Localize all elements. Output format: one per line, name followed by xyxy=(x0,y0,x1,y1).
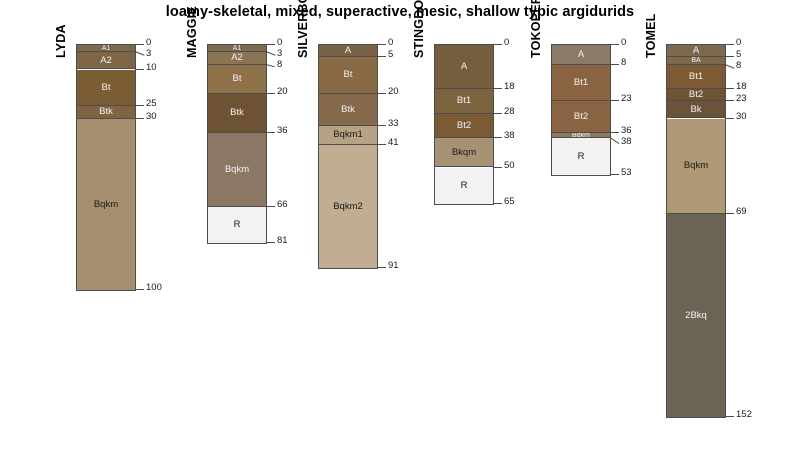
horizon-bt1: Bt1 xyxy=(552,65,610,102)
depth-value: 8 xyxy=(277,60,282,70)
horizon-bt2: Bt2 xyxy=(667,89,725,101)
tick-leader-line xyxy=(266,93,275,94)
horizon-label: R xyxy=(578,152,585,162)
tick-leader-line xyxy=(493,44,502,45)
tick-leader-line xyxy=(266,206,275,207)
horizon-a: A xyxy=(435,45,493,89)
depth-value: 91 xyxy=(388,261,399,271)
profile-name-label: LYDA xyxy=(54,24,68,58)
horizon-label: Btk xyxy=(341,105,355,115)
horizon-bt: Bt xyxy=(319,57,377,94)
tick-leader-line xyxy=(266,51,275,56)
depth-value: 28 xyxy=(504,107,515,117)
horizon-r: R xyxy=(208,207,266,244)
tick-leader-line xyxy=(135,69,144,70)
profile-column: A1A2BtBtkBqkmR xyxy=(207,44,267,244)
tick-leader-line xyxy=(610,174,619,175)
horizon-bqkm: Bqkm xyxy=(667,119,725,215)
horizon-label: Btk xyxy=(99,107,113,117)
depth-value: 8 xyxy=(621,58,626,68)
tick-leader-line xyxy=(493,137,502,138)
depth-value: 0 xyxy=(736,38,741,48)
horizon-label: A xyxy=(461,62,467,72)
horizon-a: A xyxy=(319,45,377,57)
horizon-label: R xyxy=(461,181,468,191)
horizon-r: R xyxy=(552,138,610,175)
depth-value: 18 xyxy=(504,82,515,92)
depth-value: 38 xyxy=(621,137,632,147)
horizon-bqkm1: Bqkm1 xyxy=(319,126,377,146)
horizon-a2: A2 xyxy=(77,52,135,69)
depth-value: 41 xyxy=(388,138,399,148)
depth-value: 30 xyxy=(146,112,157,122)
depth-value: 53 xyxy=(621,168,632,178)
tick-leader-line xyxy=(266,242,275,243)
depth-value: 33 xyxy=(388,119,399,129)
horizon-label: Bt2 xyxy=(457,121,471,131)
depth-value: 100 xyxy=(146,283,162,293)
depth-value: 36 xyxy=(277,126,288,136)
tick-leader-line xyxy=(725,100,734,101)
depth-value: 3 xyxy=(146,49,151,59)
profile-column: ABtBtkBqkm1Bqkm2 xyxy=(318,44,378,269)
depth-value: 0 xyxy=(146,38,151,48)
depth-value: 65 xyxy=(504,197,515,207)
depth-value: 0 xyxy=(388,38,393,48)
horizon-label: Bkqm xyxy=(452,148,476,158)
depth-value: 5 xyxy=(388,50,393,60)
tick-leader-line xyxy=(493,203,502,204)
depth-value: 25 xyxy=(146,99,157,109)
horizon-label: A2 xyxy=(100,56,112,66)
tick-leader-line xyxy=(725,118,734,119)
horizon-label: Bqkm1 xyxy=(333,130,363,140)
tick-leader-line xyxy=(135,105,144,106)
depth-value: 3 xyxy=(277,49,282,59)
profile-name-label: STINGDORN xyxy=(412,0,426,58)
tick-leader-line xyxy=(610,137,620,144)
horizon-bt2: Bt2 xyxy=(552,101,610,133)
horizon-label: Bt2 xyxy=(689,90,703,100)
horizon-label: Btk xyxy=(230,108,244,118)
depth-value: 0 xyxy=(277,38,282,48)
horizon-bk: Bk xyxy=(667,101,725,118)
horizon-label: 2Bkq xyxy=(685,311,707,321)
profile-name-label: TOMEL xyxy=(644,13,658,58)
tick-leader-line xyxy=(610,100,619,101)
tick-leader-line xyxy=(725,416,734,417)
tick-leader-line xyxy=(135,44,144,45)
horizon-bkqm: Bkqm xyxy=(435,138,493,167)
tick-leader-line xyxy=(377,56,386,57)
depth-value: 5 xyxy=(736,50,741,60)
profile-column: ABt1Bt2BkqmR xyxy=(434,44,494,205)
horizon-a: A xyxy=(667,45,725,57)
tick-leader-line xyxy=(725,213,734,214)
horizon-bt2: Bt2 xyxy=(435,114,493,139)
horizon-bt1: Bt1 xyxy=(435,89,493,114)
depth-value: 152 xyxy=(736,410,752,420)
depth-value: 66 xyxy=(277,200,288,210)
tick-leader-line xyxy=(725,64,734,69)
horizon-a1: A1 xyxy=(208,45,266,52)
horizon-label: Bqkm2 xyxy=(333,202,363,212)
profile-column: ABABt1Bt2BkBqkm2Bkq xyxy=(666,44,726,418)
tick-leader-line xyxy=(135,289,144,290)
horizon-label: A2 xyxy=(231,53,243,63)
depth-value: 0 xyxy=(621,38,626,48)
horizon-label: Bt1 xyxy=(457,96,471,106)
page-title: loamy-skeletal, mixed, superactive, mesi… xyxy=(0,4,800,20)
depth-value: 18 xyxy=(736,82,747,92)
tick-leader-line xyxy=(266,132,275,133)
horizon-label: Bt xyxy=(233,74,242,84)
tick-leader-line xyxy=(725,88,734,89)
horizon-label: A xyxy=(578,50,584,60)
depth-value: 38 xyxy=(504,131,515,141)
tick-leader-line xyxy=(377,144,386,145)
horizon-label: BA xyxy=(691,57,700,64)
horizon-bt1: Bt1 xyxy=(667,65,725,90)
depth-value: 0 xyxy=(504,38,509,48)
horizon-label: Bqkm xyxy=(94,200,118,210)
tick-leader-line xyxy=(135,118,144,119)
tick-leader-line xyxy=(266,44,275,45)
depth-value: 10 xyxy=(146,63,157,73)
horizon-ba: BA xyxy=(667,57,725,64)
depth-value: 50 xyxy=(504,161,515,171)
horizon-label: A1 xyxy=(102,45,111,52)
horizon-a1: A1 xyxy=(77,45,135,52)
horizon-bqkm: Bqkm xyxy=(208,133,266,207)
tick-leader-line xyxy=(377,125,386,126)
horizon-label: Bt1 xyxy=(689,72,703,82)
depth-value: 20 xyxy=(277,87,288,97)
horizon-label: Bqkm xyxy=(225,165,249,175)
tick-leader-line xyxy=(493,88,502,89)
horizon-btk: Btk xyxy=(319,94,377,126)
tick-leader-line xyxy=(493,167,502,168)
depth-value: 8 xyxy=(736,61,741,71)
tick-leader-line xyxy=(493,113,502,114)
horizon-2bkq: 2Bkq xyxy=(667,214,725,417)
horizon-label: Bt1 xyxy=(574,78,588,88)
horizon-label: R xyxy=(234,220,241,230)
depth-value: 36 xyxy=(621,126,632,136)
profile-name-label: TOKOPER xyxy=(529,0,543,58)
horizon-label: A xyxy=(345,46,351,56)
profile-name-label: MAGGIE xyxy=(185,6,199,58)
tick-leader-line xyxy=(377,44,386,45)
profile-name-label: SILVERBOW xyxy=(296,0,310,58)
horizon-label: A xyxy=(693,46,699,56)
tick-leader-line xyxy=(266,64,275,67)
horizon-r: R xyxy=(435,168,493,205)
profile-column: ABt1Bt2BqkmR xyxy=(551,44,611,176)
horizon-a: A xyxy=(552,45,610,65)
horizon-bqkm: Bqkm xyxy=(77,119,135,291)
horizon-bqkm2: Bqkm2 xyxy=(319,145,377,268)
tick-leader-line xyxy=(610,132,619,133)
depth-value: 30 xyxy=(736,112,747,122)
tick-leader-line xyxy=(377,267,386,268)
horizon-btk: Btk xyxy=(208,94,266,133)
depth-value: 20 xyxy=(388,87,399,97)
tick-leader-line xyxy=(725,56,734,57)
tick-leader-line xyxy=(377,93,386,94)
tick-leader-line xyxy=(610,44,619,45)
horizon-label: Bt xyxy=(344,70,353,80)
horizon-label: A1 xyxy=(233,45,242,52)
tick-leader-line xyxy=(610,64,619,65)
tick-leader-line xyxy=(725,44,734,45)
horizon-label: Bt2 xyxy=(574,112,588,122)
horizon-bt: Bt xyxy=(77,70,135,107)
horizon-btk: Btk xyxy=(77,106,135,118)
horizon-bt: Bt xyxy=(208,65,266,94)
depth-value: 23 xyxy=(621,94,632,104)
horizon-a2: A2 xyxy=(208,52,266,64)
horizon-label: Bk xyxy=(690,105,701,115)
depth-value: 23 xyxy=(736,94,747,104)
horizon-label: Bqkm xyxy=(684,161,708,171)
horizon-label: Bt xyxy=(102,83,111,93)
profile-column: A1A2BtBtkBqkm xyxy=(76,44,136,291)
tick-leader-line xyxy=(135,51,144,56)
depth-value: 81 xyxy=(277,236,288,246)
depth-value: 69 xyxy=(736,207,747,217)
